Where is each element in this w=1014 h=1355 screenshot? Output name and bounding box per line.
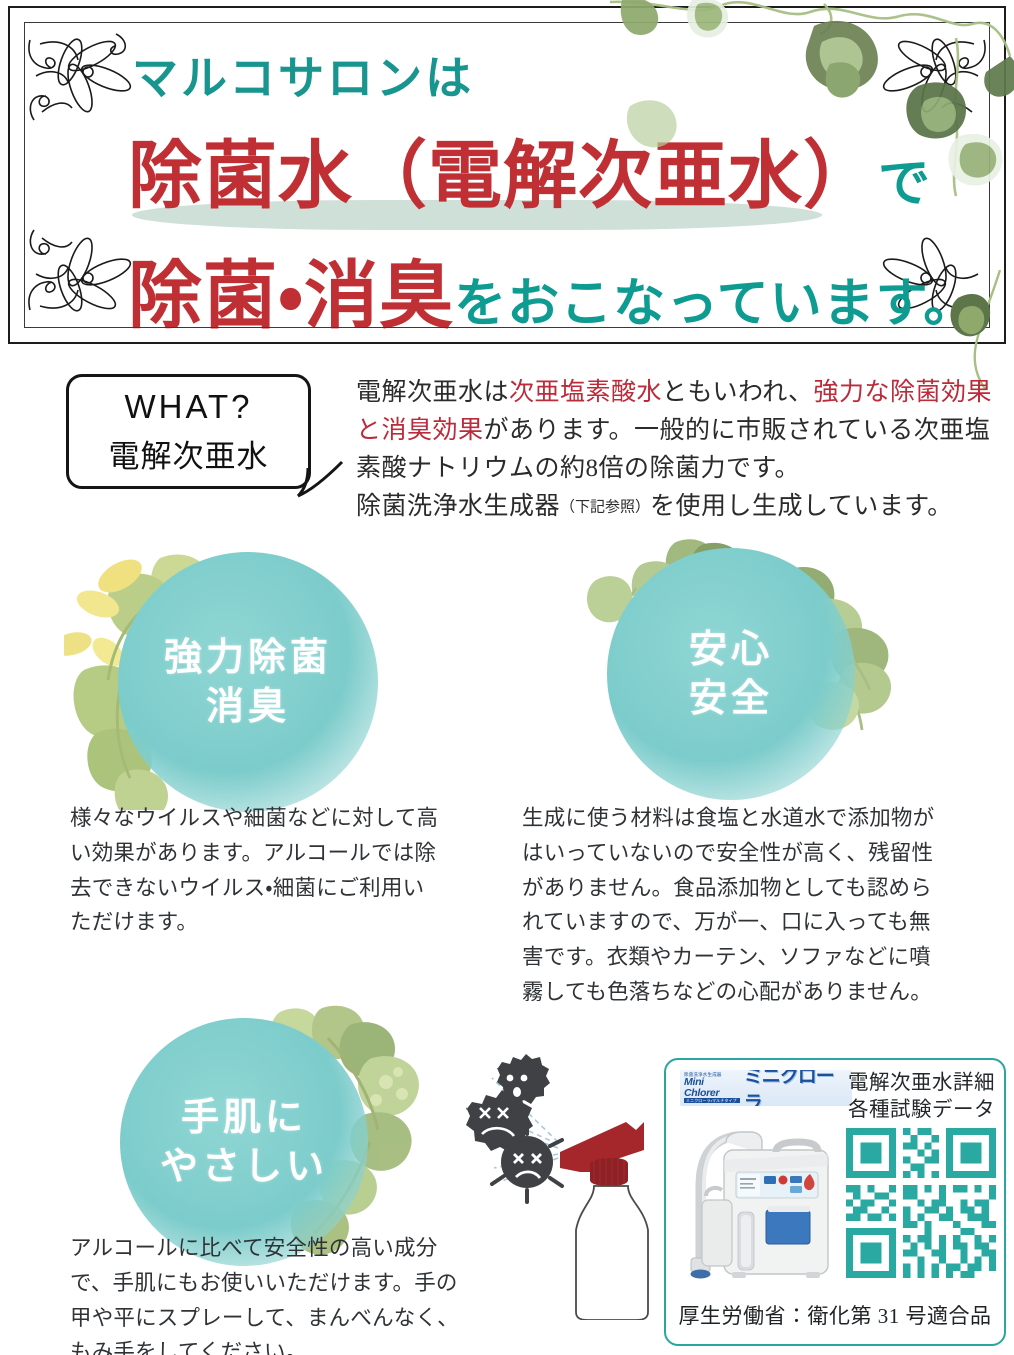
headline-line-3: 除菌・消臭をおこなっています。 xyxy=(128,236,976,343)
what-bubble-jp-label: 電解次亜水 xyxy=(109,431,269,476)
feature-sanitize-title-line1: 強力除菌 xyxy=(164,633,332,682)
feature-safe-title-line1: 安心 xyxy=(689,625,773,674)
headline-line-3-suffix: をおこなっています。 xyxy=(454,274,976,334)
qr-caption: 電解次亜水詳細 各種試験データ xyxy=(848,1070,1000,1123)
device-info-panel: 除菌洗浄水生成器 Mini Chlorer ミニクローラ・マルチタイプ ミニクロ… xyxy=(664,1058,1006,1346)
intro-seg-6: 除菌洗浄水生成器 xyxy=(356,493,560,520)
feature-safe-body: 生成に使う材料は食塩と水道水で添加物がはいっていないので安全性が高く、残留性があ… xyxy=(522,802,942,1011)
feature-circle-safe: 安心 安全 xyxy=(607,548,855,800)
headline-line-2: 除菌水（電解次亜水）で xyxy=(128,116,931,223)
water-generator-device-icon xyxy=(680,1114,840,1290)
feature-gentle-title-line2: やさしい xyxy=(160,1142,328,1191)
device-approval-caption: 厚生労働省：衛化第 31 号適合品 xyxy=(666,1300,1004,1330)
brand-jp-name: ミニクローラ xyxy=(744,1070,848,1106)
headline-line-2-suffix: で xyxy=(878,154,931,214)
feature-circle-sanitize: 強力除菌 消臭 xyxy=(118,552,378,812)
what-bubble-en-label: WHAT? xyxy=(124,388,252,426)
headline-line-3-emphasis: 除菌・消臭 xyxy=(128,253,454,339)
qr-caption-line-1: 電解次亜水詳細 xyxy=(848,1070,1000,1097)
intro-seg-3: ともいわれ、 xyxy=(662,379,814,406)
intro-seg-2-emphasis: 次亜塩素酸水 xyxy=(509,379,662,406)
brand-subtitle: ミニクローラ・マルチタイプ xyxy=(684,1098,740,1103)
qr-code-icon[interactable] xyxy=(846,1128,996,1278)
intro-paragraph: 電解次亜水は次亜塩素酸水ともいわれ、強力な除菌効果と消臭効果があります。一般的に… xyxy=(356,374,1001,526)
brand-en-name: Mini Chlorer xyxy=(684,1077,740,1098)
headline-line-1: マルコサロンは xyxy=(132,42,474,108)
product-brand-logo: 除菌洗浄水生成器 Mini Chlorer ミニクローラ・マルチタイプ ミニクロ… xyxy=(680,1070,852,1106)
headline-group: マルコサロンは 除菌水（電解次亜水）で 除菌・消臭をおこなっています。 xyxy=(10,8,1004,342)
poster-root: マルコサロンは 除菌水（電解次亜水）で 除菌・消臭をおこなっています。 xyxy=(0,0,1014,1355)
feature-sanitize-title-line2: 消臭 xyxy=(206,682,290,731)
header-frame: マルコサロンは 除菌水（電解次亜水）で 除菌・消臭をおこなっています。 xyxy=(8,6,1006,344)
qr-caption-line-2: 各種試験データ xyxy=(848,1097,1000,1124)
feature-sanitize-body: 様々なウイルスや細菌などに対して高い効果があります。アルコールでは除去できないウ… xyxy=(70,802,445,941)
feature-gentle-body: アルコールに比べて安全性の高い成分で、手肌にもお使いいただけます。手の甲や平にス… xyxy=(70,1232,460,1355)
headline-line-2-emphasis: 除菌水（電解次亜水） xyxy=(128,133,878,219)
what-bubble: WHAT? 電解次亜水 xyxy=(66,374,311,489)
intro-seg-7: を使用し生成しています。 xyxy=(650,493,953,520)
spray-bottle-icon xyxy=(560,1122,648,1320)
feature-safe-title-line2: 安全 xyxy=(689,674,773,723)
feature-circle-gentle: 手肌に やさしい xyxy=(120,1018,368,1266)
brand-en-group: 除菌洗浄水生成器 Mini Chlorer ミニクローラ・マルチタイプ xyxy=(684,1073,740,1104)
intro-seg-1: 電解次亜水は xyxy=(356,379,509,406)
spray-illustration xyxy=(430,1050,670,1320)
intro-seg-6-note: （下記参照） xyxy=(560,499,650,515)
what-bubble-tail xyxy=(296,460,346,500)
feature-gentle-title-line1: 手肌に xyxy=(181,1093,307,1142)
